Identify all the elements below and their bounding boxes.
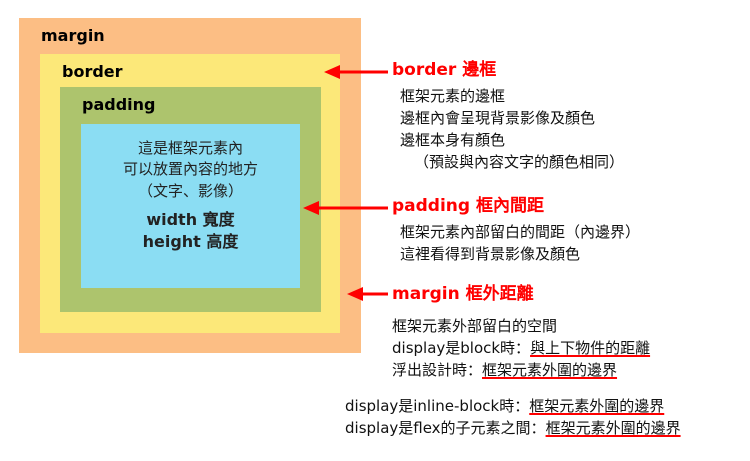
annotation-padding-title: padding 框內間距 [392,196,640,216]
annotation-margin-rule-2-value: 框架元素外圍的邊界 [482,361,617,379]
annotation-margin-rule-4-prefix: display是flex的子元素之間： [345,419,546,437]
arrow-to-margin-icon [345,285,388,303]
annotation-border-line-1: 框架元素的邊框 [400,86,624,108]
annotation-margin-line-1: 框架元素外部留白的空間 [392,316,650,338]
annotation-margin-body-2: display是inline-block時：框架元素外圍的邊界 display是… [345,396,681,440]
content-box: 這是框架元素內 可以放置內容的地方 （文字、影像） width 寬度 heigh… [81,124,300,288]
content-line-2: 可以放置內容的地方 [123,159,258,180]
arrow-to-padding-icon [301,199,388,217]
annotation-margin-rule-2-prefix: 浮出設計時： [392,361,482,379]
annotation-margin-rule-3: display是inline-block時：框架元素外圍的邊界 [345,396,681,418]
annotation-border-line-2: 邊框內會呈現背景影像及顏色 [400,108,624,130]
margin-box-label: margin [41,26,105,45]
border-box-label: border [62,62,123,81]
annotation-padding-body: 框架元素內部留白的間距（內邊界） 這裡看得到背景影像及顏色 [392,222,640,266]
annotation-border-line-3: 邊框本身有顏色 [400,130,624,152]
arrow-to-border-icon [322,63,388,81]
annotation-margin-title: margin 框外距離 [392,284,534,304]
annotation-padding-line-2: 這裡看得到背景影像及顏色 [400,244,640,266]
annotation-margin-rule-1: display是block時：與上下物件的距離 [392,338,650,360]
annotation-margin-rule-4: display是flex的子元素之間：框架元素外圍的邊界 [345,418,681,440]
content-line-1: 這是框架元素內 [138,138,243,159]
annotation-margin-body-2-lines: display是inline-block時：框架元素外圍的邊界 display是… [345,396,681,440]
annotation-border-line-4: （預設與內容文字的顏色相同） [400,152,624,174]
content-line-3: （文字、影像） [138,181,243,202]
annotation-margin-rule-1-prefix: display是block時： [392,339,530,357]
content-height-line: height 高度 [143,231,239,253]
annotation-margin-body: 框架元素外部留白的空間 display是block時：與上下物件的距離 浮出設計… [392,316,650,382]
annotation-padding: padding 框內間距 框架元素內部留白的間距（內邊界） 這裡看得到背景影像及… [392,196,640,266]
annotation-margin-rule-1-value: 與上下物件的距離 [530,339,650,357]
annotation-border-title: border 邊框 [392,60,624,80]
annotation-margin-rule-3-value: 框架元素外圍的邊界 [529,397,664,415]
annotation-margin-rule-3-prefix: display是inline-block時： [345,397,529,415]
padding-box-label: padding [82,95,155,114]
annotation-border: border 邊框 框架元素的邊框 邊框內會呈現背景影像及顏色 邊框本身有顏色 … [392,60,624,174]
annotation-margin-title-wrap: margin 框外距離 [392,284,534,304]
content-width-line: width 寬度 [146,209,234,231]
annotation-padding-line-1: 框架元素內部留白的間距（內邊界） [400,222,640,244]
annotation-margin-rule-4-value: 框架元素外圍的邊界 [546,419,681,437]
annotation-margin-body-lines: 框架元素外部留白的空間 display是block時：與上下物件的距離 浮出設計… [392,316,650,382]
box-model-diagram: margin border padding 這是框架元素內 可以放置內容的地方 … [0,0,750,461]
annotation-border-body: 框架元素的邊框 邊框內會呈現背景影像及顏色 邊框本身有顏色 （預設與內容文字的顏… [392,86,624,174]
annotation-margin-rule-2: 浮出設計時：框架元素外圍的邊界 [392,360,650,382]
